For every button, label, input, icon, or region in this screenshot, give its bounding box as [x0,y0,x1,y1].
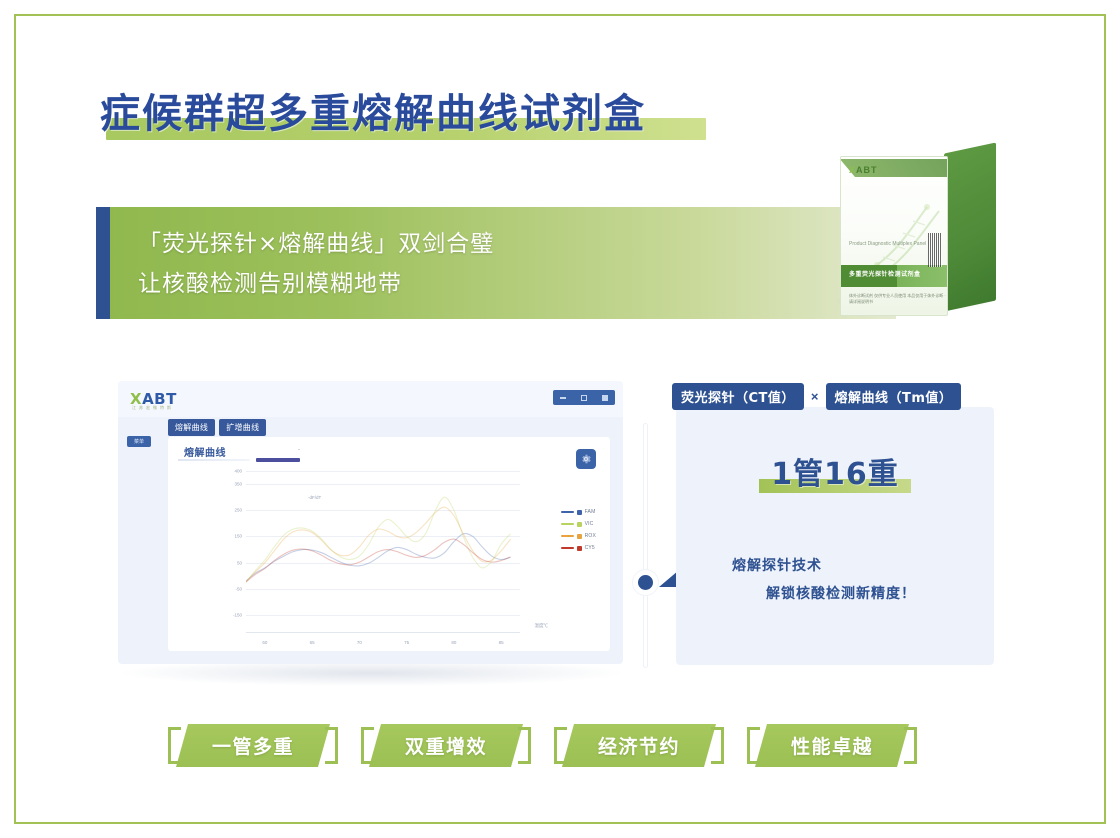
poster-page: 症候群超多重熔解曲线试剂盒 「荧光探针×熔解曲线」双剑合璧 让核酸检测告别模糊地… [0,0,1120,838]
chart-legend: FAMVICROXCY5 [561,509,596,551]
legend-color-swatch [577,522,582,527]
legend-label: VIC [585,521,594,527]
page-title: 症候群超多重熔解曲线试剂盒 [100,88,646,144]
feature-badge-label: 性能卓越 [747,724,917,767]
x-axis-line [246,632,520,633]
legend-item[interactable]: ROX [561,533,596,539]
feature-badge-label: 一管多重 [168,724,338,767]
y-axis-tick-label: -50 [235,586,242,591]
legend-label: CY5 [585,545,595,551]
window-controls[interactable] [553,390,615,405]
legend-item[interactable]: FAM [561,509,596,515]
x-axis-tick-label: 65 [310,640,315,645]
chart-series-line [246,539,511,582]
product-box-image: XABT Product Diagnostic Multiplex Panel … [826,140,1006,325]
close-icon[interactable] [602,395,608,401]
subtitle-line-2: 让核酸检测告别模糊地带 [138,264,494,304]
melting-curve-plot: -dF/dT 40035025015050-50-150 60657075808… [246,471,520,615]
feature-badge: 经济节约 [554,724,724,767]
product-box-chinese-label: 多重荧光探针检测试剂盒 [849,269,921,278]
maximize-icon[interactable] [581,395,587,401]
legend-label: FAM [585,509,596,515]
chart-title-underline [178,459,250,461]
y-axis-tick-label: 150 [234,534,242,539]
highlight-panel: 1管16重 熔解探针技术 解锁核酸检测新精度！ [676,407,994,665]
product-box-logo-text: ABT [856,165,878,175]
subtitle-banner-accent-bar [96,207,110,319]
feature-badge-label: 双重增效 [361,724,531,767]
feature-badges: 一管多重双重增效经济节约性能卓越 [168,724,917,767]
badge-fluorescent-probe: 荧光探针（CT值） [672,383,804,410]
page-title-text: 症候群超多重熔解曲线试剂盒 [100,88,646,140]
slider-knob-dot [638,575,653,590]
app-screenshot: XABT 江苏宏微特斯 菜单 熔解曲线 扩增曲线 熔解曲线 - [118,381,623,664]
y-axis-tick-label: 350 [234,482,242,487]
subtitle-banner-text: 「荧光探针×熔解曲线」双剑合璧 让核酸检测告别模糊地带 [138,224,494,304]
app-menu-button[interactable]: 菜单 [127,436,151,447]
y-axis-tick-label: 400 [234,469,242,474]
tab-amplification-curve[interactable]: 扩增曲线 [219,419,266,436]
feature-badge: 双重增效 [361,724,531,767]
legend-line-swatch [561,511,574,514]
x-axis-tick-label: 85 [499,640,504,645]
legend-color-swatch [577,510,582,515]
chart-select-bar[interactable] [256,458,300,462]
badge-melting-curve: 熔解曲线（Tm值） [826,383,962,410]
legend-label: ROX [585,533,596,539]
legend-color-swatch [577,534,582,539]
legend-color-swatch [577,546,582,551]
hero-text: 1管16重 [676,449,994,493]
app-logo-subtitle: 江苏宏微特斯 [132,405,174,411]
y-axis-tick-label: 250 [234,508,242,513]
chart-card: 熔解曲线 - -dF/dT 40035025015050-50-150 6065… [168,437,610,651]
product-box-logo: XABT [849,165,878,175]
chart-select-value[interactable]: - [256,447,300,456]
app-titlebar: XABT 江苏宏微特斯 [118,381,623,417]
badge-multiply-operator: × [811,389,819,404]
hero-block: 1管16重 [676,449,994,493]
x-axis-tick-label: 75 [404,640,409,645]
y-axis-tick-label: 50 [237,560,242,565]
subtitle-line-1: 「荧光探针×熔解曲线」双剑合璧 [138,224,494,264]
chart-title: 熔解曲线 [184,444,226,459]
chart-series-line [246,534,511,581]
legend-line-swatch [561,535,574,538]
chart-curves [246,471,520,615]
feature-badge: 性能卓越 [747,724,917,767]
vertical-slider-knob[interactable] [633,570,658,595]
legend-line-swatch [561,523,574,526]
chart-gridline [246,615,520,616]
product-box-side-panel [944,142,996,311]
highlight-panel-line-2: 解锁核酸检测新精度！ [766,583,916,603]
legend-item[interactable]: CY5 [561,545,596,551]
x-axis-tick-label: 60 [262,640,267,645]
highlight-panel-line-1: 熔解探针技术 [732,555,822,575]
y-axis-tick-label: -150 [233,613,242,618]
feature-badge-label: 经济节约 [554,724,724,767]
vertical-slider-track[interactable] [643,423,648,668]
legend-line-swatch [561,547,574,550]
legend-item[interactable]: VIC [561,521,596,527]
gear-icon[interactable] [576,449,596,469]
chart-series-line [246,507,511,581]
minimize-icon[interactable] [560,397,566,399]
chart-series-line [246,497,511,582]
app-tabs: 熔解曲线 扩增曲线 [168,419,266,436]
tab-melting-curve[interactable]: 熔解曲线 [168,419,215,436]
product-box-logo-x: X [849,165,856,175]
formula-badges: 荧光探针（CT值） × 熔解曲线（Tm值） [672,383,961,410]
x-axis-label: 温度℃ [535,623,549,629]
x-axis-tick-label: 70 [357,640,362,645]
product-box-english-label: Product Diagnostic Multiplex Panel [849,241,926,248]
product-box-front-panel: XABT Product Diagnostic Multiplex Panel … [840,156,948,316]
product-box-fineprint: 体外诊断试剂 仅供专业人员使用 本品仅用于体外诊断 · 请详阅说明书 [849,293,947,305]
barcode-icon [928,233,942,267]
feature-badge: 一管多重 [168,724,338,767]
x-axis-tick-label: 80 [451,640,456,645]
